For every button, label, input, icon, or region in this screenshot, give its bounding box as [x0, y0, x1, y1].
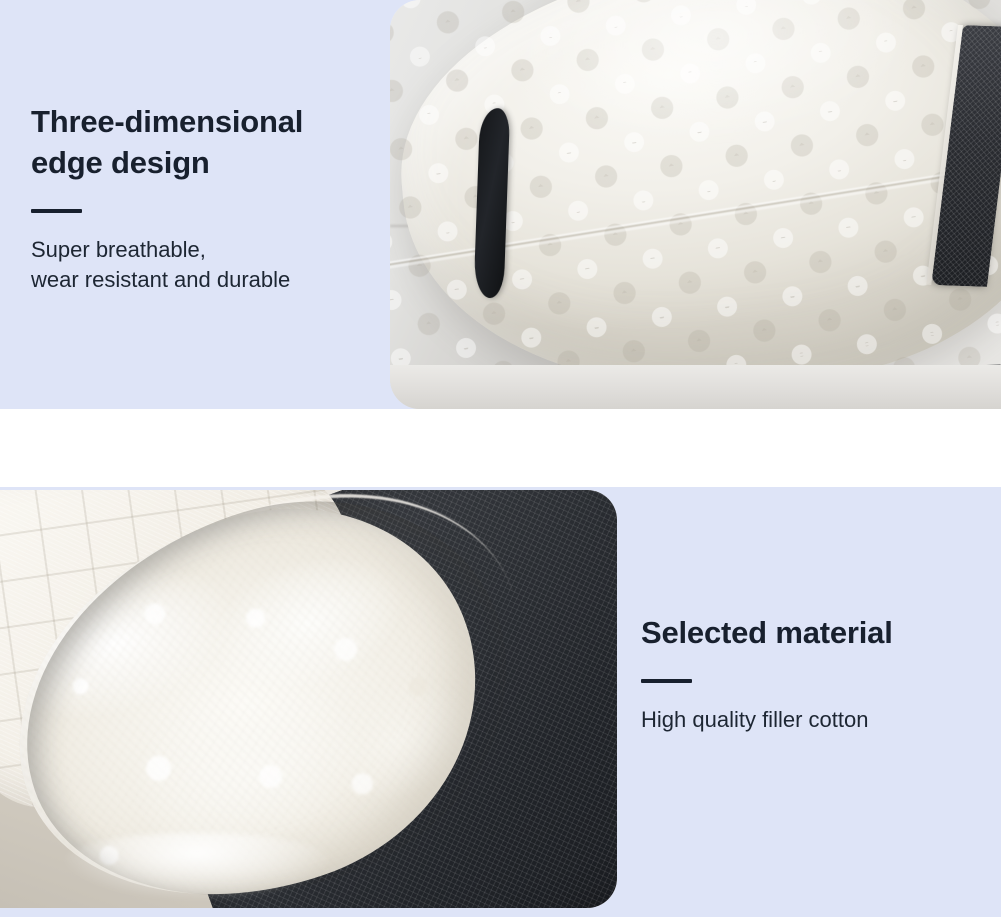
feature-panel-edge-design: Three-dimensional edge design Super brea… — [0, 0, 1001, 409]
pillow-body — [390, 0, 1001, 409]
edge-design-text-block: Three-dimensional edge design Super brea… — [31, 101, 371, 295]
edge-design-headline: Three-dimensional edge design — [31, 101, 371, 183]
filler-cotton-photo — [0, 490, 617, 908]
photo-table-surface — [390, 365, 1001, 409]
selected-material-text-block: Selected material High quality filler co… — [641, 612, 981, 735]
selected-material-subtext: High quality filler cotton — [641, 705, 981, 735]
mesh-gusset-left — [473, 107, 510, 298]
selected-material-headline: Selected material — [641, 612, 981, 653]
edge-design-subtext: Super breathable, wear resistant and dur… — [31, 235, 371, 295]
headline-divider — [31, 209, 82, 213]
quilted-pillow-edge-photo — [390, 0, 1001, 409]
headline-divider — [641, 679, 692, 683]
product-feature-page: Three-dimensional edge design Super brea… — [0, 0, 1001, 917]
